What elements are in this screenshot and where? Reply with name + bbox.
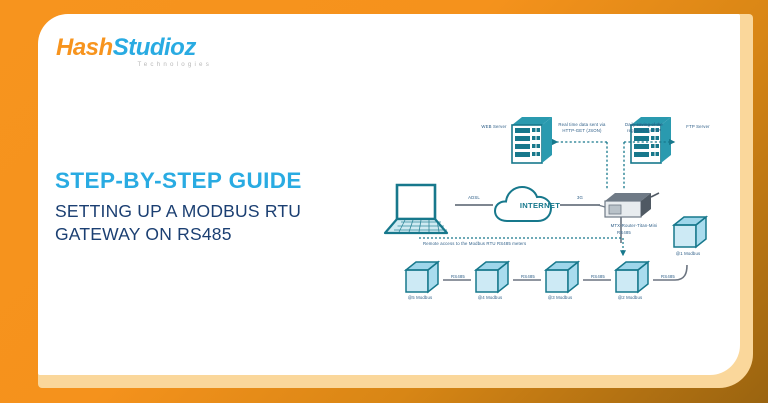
internet-cloud-label: INTERNET [511, 201, 569, 210]
modbus-device-4-icon [476, 262, 508, 292]
modbus-device-5-label: @5 Modbus [397, 295, 443, 301]
logo-tagline: Technologies [56, 61, 216, 68]
uplink-rs485-label: RS485 [609, 230, 639, 236]
remote-access-note: Remote access to the Modbus RTU RS485 me… [423, 241, 526, 247]
page-title: SETTING UP A MODBUS RTU GATEWAY ON RS485 [55, 200, 355, 246]
modbus-device-4-label: @4 Modbus [467, 295, 513, 301]
bus-link-3-label: RS485 [587, 274, 609, 280]
web-server-icon [512, 117, 552, 163]
network-diagram: WEB Server FTP Server Real time data sen… [375, 95, 725, 320]
bus-link-2-label: RS485 [517, 274, 539, 280]
modbus-device-1-icon [674, 217, 706, 247]
headline-block: STEP-BY-STEP GUIDE SETTING UP A MODBUS R… [55, 168, 355, 246]
ftp-server-label: FTP Server [675, 124, 721, 130]
modbus-device-2-label: @2 Modbus [607, 295, 653, 301]
router-label: MTX-Router-Titan-Mini [589, 223, 679, 229]
http-get-note-line-1: Real time data sent via [553, 122, 611, 128]
logo-studioz-text: Studioz [113, 34, 196, 61]
bus-link-1-label: RS485 [447, 274, 469, 280]
adsl-label: ADSL [457, 195, 491, 201]
modbus-device-3-label: @3 Modbus [537, 295, 583, 301]
web-server-label: WEB Server [471, 124, 517, 130]
company-logo: HashStudioz Technologies [56, 36, 216, 72]
http-get-note-line-2: HTTP-GET (JSON) [553, 128, 611, 134]
modbus-device-2-icon [616, 262, 648, 292]
modbus-device-3-icon [546, 262, 578, 292]
router-icon [598, 193, 659, 217]
modbus-device-5-icon [406, 262, 438, 292]
laptop-icon [385, 185, 447, 233]
modbus-device-1-label: @1 Modbus [665, 251, 711, 257]
eyebrow-heading: STEP-BY-STEP GUIDE [55, 168, 355, 194]
logo-wordmark: HashStudioz [56, 36, 216, 60]
poster-canvas: HashStudioz Technologies STEP-BY-STEP GU… [0, 0, 768, 403]
ftp-note-line-1: Daily saving of the [615, 122, 673, 128]
ftp-note-line-2: registers by FTP [615, 128, 673, 134]
page-title-line-2: GATEWAY ON RS485 [55, 223, 355, 246]
page-title-line-1: SETTING UP A MODBUS RTU [55, 200, 355, 223]
logo-hash-text: Hash [56, 34, 113, 61]
bus-link-4-label: RS485 [657, 274, 679, 280]
threeg-label: 3G [565, 195, 595, 201]
